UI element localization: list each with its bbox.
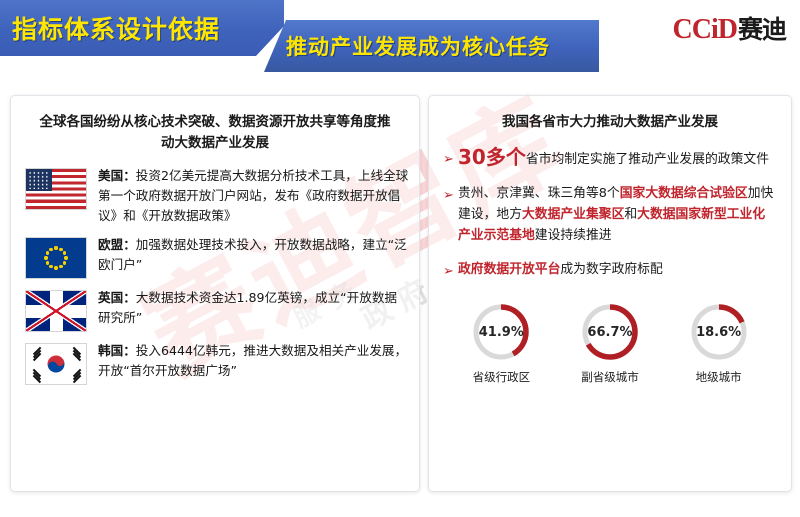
country-row: 韩国：投入6444亿韩元，推进大数据及相关产业发展，开放“首尔开放数据广场”: [11, 341, 419, 385]
bullet-text-segment: 省市均制定实施了推动产业发展的政策文件: [526, 152, 769, 167]
country-description: 投入6444亿韩元，推进大数据及相关产业发展，开放“首尔开放数据广场”: [98, 343, 407, 378]
header-title-secondary: 推动产业发展成为核心任务: [264, 31, 550, 61]
country-description: 投资2亿美元提高大数据分析技术工具，上线全球第一个政府数据开放门户网站，发布《政…: [98, 168, 408, 223]
country-row-text: 美国：投资2亿美元提高大数据分析技术工具，上线全球第一个政府数据开放门户网站，发…: [98, 166, 409, 226]
country-row: 美国：投资2亿美元提高大数据分析技术工具，上线全球第一个政府数据开放门户网站，发…: [11, 166, 419, 226]
arrow-bullet-icon: ➢: [443, 185, 458, 204]
bullet-list: ➢30多个省市均制定实施了推动产业发展的政策文件➢贵州、京津冀、珠三角等8个国家…: [429, 133, 791, 280]
bullet-text-segment: 成为数字政府标配: [560, 262, 662, 277]
bullet-text-segment: 和: [624, 207, 637, 222]
donut-ring: 41.9%: [470, 301, 532, 363]
header-banner-primary: 指标体系设计依据: [0, 0, 284, 56]
left-panel-title: 全球各国纷纷从核心技术突破、数据资源开放共享等角度推动大数据产业发展: [11, 96, 419, 154]
donut-value: 66.7%: [579, 301, 641, 363]
bullet-item: ➢30多个省市均制定实施了推动产业发展的政策文件: [443, 147, 775, 170]
header-title-primary: 指标体系设计依据: [0, 10, 220, 46]
country-row-text: 欧盟：加强数据处理技术投入，开放数据战略，建立“泛欧门户”: [98, 235, 409, 275]
uk-flag-icon: [25, 290, 87, 332]
logo-chinese-text: 赛迪: [738, 10, 786, 46]
country-description: 大数据技术资金达1.89亿英镑，成立“开放数据研究所”: [98, 290, 397, 325]
country-name-label: 欧盟：: [98, 237, 136, 252]
country-row: 英国：大数据技术资金达1.89亿英镑，成立“开放数据研究所”: [11, 288, 419, 332]
header-banner-secondary: 推动产业发展成为核心任务: [264, 20, 599, 72]
country-row-text: 韩国：投入6444亿韩元，推进大数据及相关产业发展，开放“首尔开放数据广场”: [98, 341, 409, 381]
donut-chart-group: 41.9%省级行政区66.7%副省级城市18.6%地级城市: [429, 293, 791, 385]
ccid-logo: CCiD 赛迪: [673, 10, 786, 46]
country-description: 加强数据处理技术投入，开放数据战略，建立“泛欧门户”: [98, 237, 407, 272]
eu-flag-icon: [25, 237, 87, 279]
bullet-text-segment: 建设持续推进: [535, 228, 612, 243]
bullet-item: ➢贵州、京津冀、珠三角等8个国家大数据综合试验区加快建设，地方大数据产业集聚区和…: [443, 183, 775, 246]
donut-chart: 66.7%副省级城市: [579, 301, 641, 385]
page-header: 指标体系设计依据 推动产业发展成为核心任务 CCiD 赛迪: [0, 0, 800, 88]
logo-latin-text: CCiD: [673, 14, 737, 46]
right-panel-card: 我国各省市大力推动大数据产业发展 ➢30多个省市均制定实施了推动产业发展的政策文…: [428, 95, 792, 492]
country-name-label: 韩国：: [98, 343, 136, 358]
left-panel-card: 全球各国纷纷从核心技术突破、数据资源开放共享等角度推动大数据产业发展 美国：投资…: [10, 95, 420, 492]
bullet-text-segment: 国家大数据综合试验区: [620, 186, 748, 201]
bullet-text-segment: 30多个: [458, 145, 526, 169]
arrow-bullet-icon: ➢: [443, 149, 458, 168]
bullet-text-segment: 贵州、京津冀、珠三角等8个: [458, 186, 620, 201]
bullet-text-segment: 大数据产业集聚区: [522, 207, 624, 222]
country-row-text: 英国：大数据技术资金达1.89亿英镑，成立“开放数据研究所”: [98, 288, 409, 328]
country-row: 欧盟：加强数据处理技术投入，开放数据战略，建立“泛欧门户”: [11, 235, 419, 279]
bullet-text: 贵州、京津冀、珠三角等8个国家大数据综合试验区加快建设，地方大数据产业集聚区和大…: [458, 183, 775, 246]
bullet-text: 政府数据开放平台成为数字政府标配: [458, 259, 775, 280]
donut-label: 省级行政区: [473, 369, 531, 385]
country-name-label: 英国：: [98, 290, 136, 305]
bullet-text: 30多个省市均制定实施了推动产业发展的政策文件: [458, 147, 775, 170]
country-list: 美国：投资2亿美元提高大数据分析技术工具，上线全球第一个政府数据开放门户网站，发…: [11, 166, 419, 385]
bullet-item: ➢政府数据开放平台成为数字政府标配: [443, 259, 775, 280]
donut-chart: 41.9%省级行政区: [470, 301, 532, 385]
arrow-bullet-icon: ➢: [443, 261, 458, 280]
country-name-label: 美国：: [98, 168, 136, 183]
donut-value: 41.9%: [470, 301, 532, 363]
usa-flag-icon: [25, 168, 87, 210]
donut-label: 副省级城市: [581, 369, 639, 385]
donut-value: 18.6%: [688, 301, 750, 363]
donut-chart: 18.6%地级城市: [688, 301, 750, 385]
right-panel-title: 我国各省市大力推动大数据产业发展: [429, 96, 791, 133]
donut-ring: 18.6%: [688, 301, 750, 363]
bullet-text-segment: 政府数据开放平台: [458, 262, 560, 277]
korea-flag-icon: [25, 343, 87, 385]
donut-label: 地级城市: [696, 369, 742, 385]
donut-ring: 66.7%: [579, 301, 641, 363]
